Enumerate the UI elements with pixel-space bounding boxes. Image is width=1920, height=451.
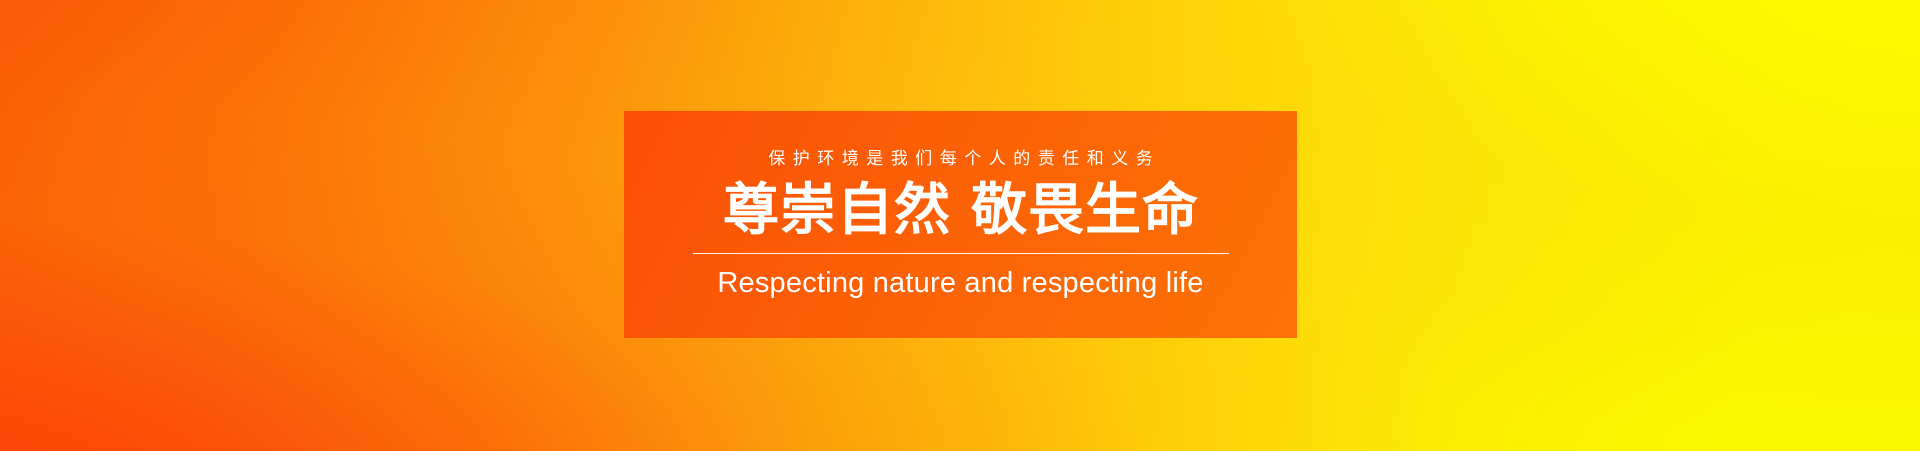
slogan-card: 保护环境是我们每个人的责任和义务 尊崇自然敬畏生命 Respecting nat… (624, 111, 1297, 338)
slogan-headline-part-2: 敬畏生命 (971, 178, 1199, 241)
slogan-subtitle: Respecting nature and respecting life (717, 267, 1203, 300)
slogan-headline: 尊崇自然敬畏生命 (722, 181, 1199, 239)
environment-slogan-banner: 保护环境是我们每个人的责任和义务 尊崇自然敬畏生命 Respecting nat… (0, 0, 1920, 451)
slogan-kicker: 保护环境是我们每个人的责任和义务 (761, 149, 1161, 169)
slogan-divider (693, 253, 1229, 254)
slogan-headline-part-1: 尊崇自然 (723, 178, 951, 241)
